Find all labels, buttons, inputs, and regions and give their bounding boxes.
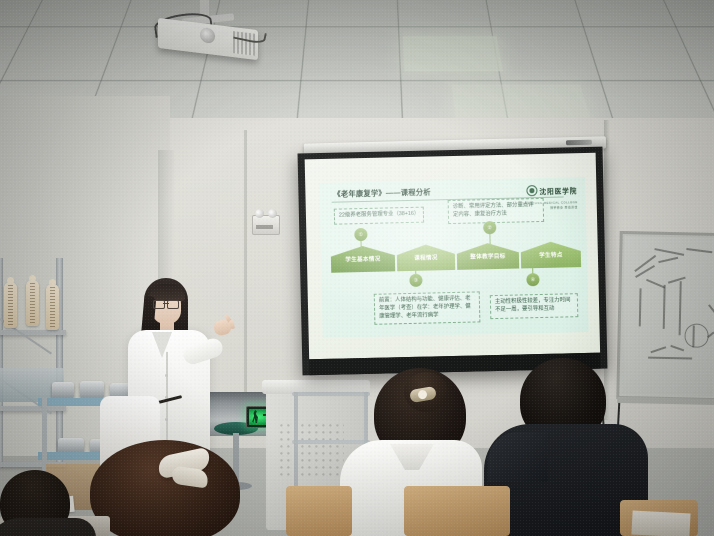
classroom-chair [286, 486, 352, 536]
slide-box-course-info: 前置：人体结构与功能、健康评估、老年医学（考查）在学：老年护理学、健康管理学、老… [374, 291, 481, 325]
stainless-pot-icon [52, 382, 74, 399]
slide-box-students: 22级养老服务管理专业（38+16） [334, 207, 424, 225]
rack-post [294, 392, 298, 496]
slide-node-3: ③ [409, 274, 422, 287]
slide-hexagon-student-traits: 学生特点 [521, 241, 582, 268]
wall-seam [244, 130, 247, 430]
projector [148, 2, 264, 60]
slide-node-4: ④ [526, 273, 539, 286]
slide-title: 《老年康复学》——课程分析 [333, 187, 431, 199]
lab-coat-button [165, 418, 168, 421]
screen-roller-button[interactable] [566, 140, 592, 146]
projection-screen: 《老年康复学》——课程分析 沈阳医学院 SHENYANG MEDICAL COL… [298, 147, 608, 376]
slide-hexagon-course-status: 课程情况 [397, 244, 456, 271]
anatomical-model-icon [4, 282, 17, 328]
presentation-slide: 《老年康复学》——课程分析 沈阳医学院 SHENYANG MEDICAL COL… [319, 177, 588, 338]
shelf-post [0, 258, 3, 468]
emergency-light [252, 215, 280, 235]
audience-shoulder [488, 432, 548, 482]
notebook [631, 510, 690, 536]
classroom-chair [404, 486, 510, 536]
slide-node-1: ① [354, 228, 367, 241]
emergency-light-panel [256, 225, 273, 229]
glasses-icon [153, 300, 179, 307]
logo-name-cn: 沈阳医学院 [539, 185, 577, 196]
anatomical-model-icon [26, 280, 39, 326]
slide-node-2: ② [483, 221, 496, 234]
anatomical-model-icon [46, 284, 59, 330]
lab-coat-lapel [152, 332, 172, 358]
shelf-level [0, 330, 66, 335]
lab-coat-button [165, 374, 168, 377]
slide-box-student-traits: 主动性积极性较差，专注力时间不足一周，要引导和互动 [490, 293, 579, 319]
logo-emblem-icon [526, 185, 537, 196]
slide-hexagon-row: 学生基本情况 课程情况 整体教学目标 学生特点 [331, 241, 582, 273]
audience-member-left-edge [0, 470, 90, 536]
slide-hexagon-student-basics: 学生基本情况 [331, 245, 396, 272]
stainless-pot-icon [80, 381, 104, 399]
classroom-photo: 《老年康复学》——课程分析 沈阳医学院 SHENYANG MEDICAL COL… [0, 0, 714, 536]
audience-head [90, 440, 240, 536]
slide-hexagon-overall-goal: 整体教学目标 [457, 242, 520, 269]
emergency-lamp-icon [268, 209, 277, 218]
slide-box-teaching-goal: 诊断、常用评定方法、部分重点评定内容、康复治疗方法 [448, 198, 545, 224]
audience-torso [0, 518, 96, 536]
emergency-lamp-icon [255, 209, 264, 218]
projection-screen-surface: 《老年康复学》——课程分析 沈阳医学院 SHENYANG MEDICAL COL… [305, 153, 600, 360]
